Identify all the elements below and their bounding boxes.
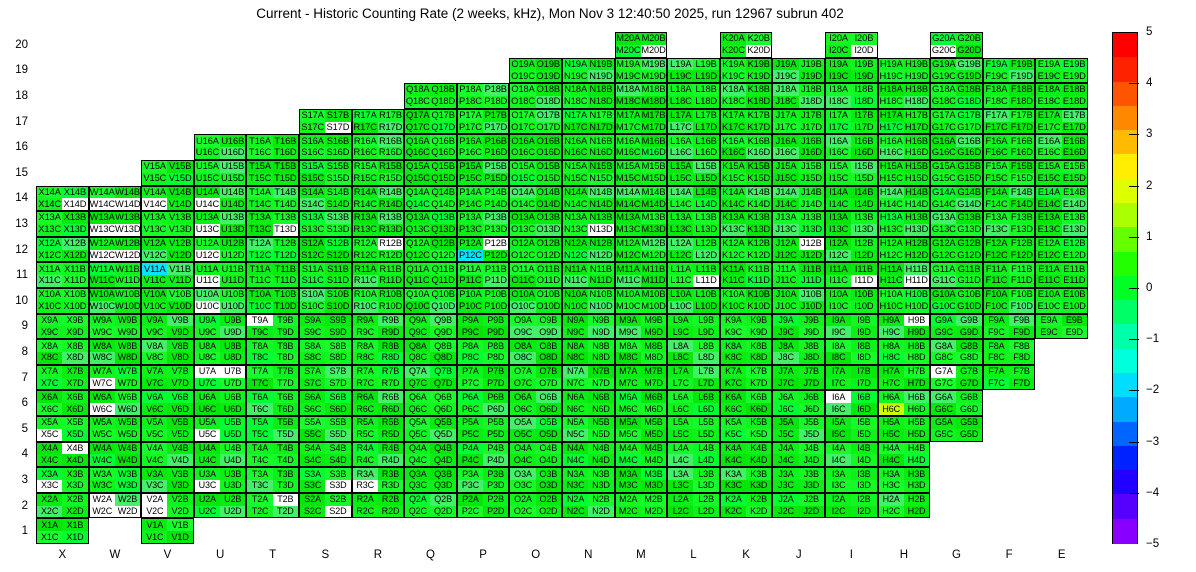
channel-L2A[interactable]: L2A bbox=[668, 494, 693, 506]
detector-cell-F13[interactable]: F13AF13BF13CF13D bbox=[983, 211, 1036, 237]
channel-L12D[interactable]: L12D bbox=[693, 250, 718, 262]
channel-E17B[interactable]: E17B bbox=[1062, 110, 1087, 122]
channel-U4B[interactable]: U4B bbox=[220, 443, 245, 455]
detector-cell-K13[interactable]: K13AK13BK13CK13D bbox=[720, 211, 773, 237]
channel-K14D[interactable]: K14D bbox=[746, 198, 771, 210]
detector-cell-N17[interactable]: N17AN17BN17CN17D bbox=[562, 109, 615, 135]
channel-F7B[interactable]: F7B bbox=[1009, 366, 1034, 378]
channel-U5B[interactable]: U5B bbox=[220, 417, 245, 429]
channel-F15D[interactable]: F15D bbox=[1009, 173, 1034, 185]
detector-cell-Q9[interactable]: Q9AQ9BQ9CQ9D bbox=[404, 314, 457, 340]
channel-T7B[interactable]: T7B bbox=[273, 366, 298, 378]
channel-K16A[interactable]: K16A bbox=[721, 135, 746, 147]
channel-Q14A[interactable]: Q14A bbox=[405, 187, 430, 199]
channel-S15D[interactable]: S15D bbox=[325, 173, 350, 185]
channel-S4C[interactable]: S4C bbox=[300, 454, 325, 466]
channel-H18D[interactable]: H18D bbox=[904, 96, 929, 108]
channel-M7B[interactable]: M7B bbox=[641, 366, 666, 378]
channel-P9D[interactable]: P9D bbox=[483, 326, 508, 338]
channel-N3B[interactable]: N3B bbox=[588, 468, 613, 480]
channel-P16A[interactable]: P16A bbox=[458, 135, 483, 147]
detector-cell-N4[interactable]: N4AN4BN4CN4D bbox=[562, 442, 615, 468]
detector-cell-L11[interactable]: L11AL11BL11CL11D bbox=[667, 262, 720, 288]
detector-cell-T3[interactable]: T3AT3BT3CT3D bbox=[246, 467, 299, 493]
detector-cell-M11[interactable]: M11AM11BM11CM11D bbox=[615, 262, 668, 288]
channel-P2B[interactable]: P2B bbox=[483, 494, 508, 506]
channel-Q4D[interactable]: Q4D bbox=[430, 454, 455, 466]
detector-cell-L14[interactable]: L14AL14BL14CL14D bbox=[667, 186, 720, 212]
channel-S12B[interactable]: S12B bbox=[325, 238, 350, 250]
channel-I19C[interactable]: I19C bbox=[826, 70, 851, 82]
channel-N16D[interactable]: N16D bbox=[588, 147, 613, 159]
channel-M4A[interactable]: M4A bbox=[616, 443, 641, 455]
channel-G5C[interactable]: G5C bbox=[931, 429, 956, 441]
channel-O13C[interactable]: O13C bbox=[510, 224, 535, 236]
channel-I19D[interactable]: I19D bbox=[851, 70, 876, 82]
channel-S5B[interactable]: S5B bbox=[325, 417, 350, 429]
detector-cell-R14[interactable]: R14AR14BR14CR14D bbox=[352, 186, 405, 212]
channel-O3B[interactable]: O3B bbox=[536, 468, 561, 480]
detector-cell-I7[interactable]: I7AI7BI7CI7D bbox=[825, 365, 878, 391]
channel-T5C[interactable]: T5C bbox=[247, 429, 272, 441]
detector-cell-L7[interactable]: L7AL7BL7CL7D bbox=[667, 365, 720, 391]
channel-X2A[interactable]: X2A bbox=[37, 494, 62, 506]
channel-J6C[interactable]: J6C bbox=[773, 403, 798, 415]
channel-G6C[interactable]: G6C bbox=[931, 403, 956, 415]
channel-W9D[interactable]: W9D bbox=[115, 326, 140, 338]
channel-N16A[interactable]: N16A bbox=[563, 135, 588, 147]
channel-F17A[interactable]: F17A bbox=[984, 110, 1009, 122]
detector-cell-K15[interactable]: K15AK15BK15CK15D bbox=[720, 160, 773, 186]
channel-J8C[interactable]: J8C bbox=[773, 352, 798, 364]
channel-V10A[interactable]: V10A bbox=[142, 289, 167, 301]
channel-W4D[interactable]: W4D bbox=[115, 454, 140, 466]
channel-P12D[interactable]: P12D bbox=[483, 250, 508, 262]
channel-R12B[interactable]: R12B bbox=[378, 238, 403, 250]
channel-Q3B[interactable]: Q3B bbox=[430, 468, 455, 480]
channel-L16D[interactable]: L16D bbox=[693, 147, 718, 159]
detector-cell-Q2[interactable]: Q2AQ2BQ2CQ2D bbox=[404, 493, 457, 519]
channel-S4B[interactable]: S4B bbox=[325, 443, 350, 455]
channel-J15A[interactable]: J15A bbox=[773, 161, 798, 173]
channel-I20D[interactable]: I20D bbox=[851, 45, 876, 57]
channel-J14D[interactable]: J14D bbox=[799, 198, 824, 210]
channel-N16C[interactable]: N16C bbox=[563, 147, 588, 159]
channel-Q6A[interactable]: Q6A bbox=[405, 391, 430, 403]
channel-K5D[interactable]: K5D bbox=[746, 429, 771, 441]
channel-J5A[interactable]: J5A bbox=[773, 417, 798, 429]
channel-F8D[interactable]: F8D bbox=[1009, 352, 1034, 364]
channel-Q12B[interactable]: Q12B bbox=[430, 238, 455, 250]
channel-H11C[interactable]: H11C bbox=[879, 275, 904, 287]
channel-G10A[interactable]: G10A bbox=[931, 289, 956, 301]
channel-L3B[interactable]: L3B bbox=[693, 468, 718, 480]
channel-R15B[interactable]: R15B bbox=[378, 161, 403, 173]
channel-N5C[interactable]: N5C bbox=[563, 429, 588, 441]
channel-I3A[interactable]: I3A bbox=[826, 468, 851, 480]
detector-cell-K14[interactable]: K14AK14BK14CK14D bbox=[720, 186, 773, 212]
channel-Q13C[interactable]: Q13C bbox=[405, 224, 430, 236]
channel-N15C[interactable]: N15C bbox=[563, 173, 588, 185]
detector-cell-I10[interactable]: I10AI10BI10CI10D bbox=[825, 288, 878, 314]
channel-T3C[interactable]: T3C bbox=[247, 480, 272, 492]
channel-H6C[interactable]: H6C bbox=[879, 403, 904, 415]
channel-G8D[interactable]: G8D bbox=[956, 352, 981, 364]
detector-cell-G20[interactable]: G20AG20BG20CG20D bbox=[930, 32, 983, 58]
channel-M3C[interactable]: M3C bbox=[616, 480, 641, 492]
channel-M7D[interactable]: M7D bbox=[641, 378, 666, 390]
channel-U15C[interactable]: U15C bbox=[195, 173, 220, 185]
channel-U6D[interactable]: U6D bbox=[220, 403, 245, 415]
channel-O10B[interactable]: O10B bbox=[536, 289, 561, 301]
channel-M8A[interactable]: M8A bbox=[616, 340, 641, 352]
channel-E17A[interactable]: E17A bbox=[1036, 110, 1061, 122]
channel-K11A[interactable]: K11A bbox=[721, 263, 746, 275]
channel-R6D[interactable]: R6D bbox=[378, 403, 403, 415]
channel-G11D[interactable]: G11D bbox=[956, 275, 981, 287]
detector-cell-R9[interactable]: R9AR9BR9CR9D bbox=[352, 314, 405, 340]
channel-S16B[interactable]: S16B bbox=[325, 135, 350, 147]
channel-M7A[interactable]: M7A bbox=[616, 366, 641, 378]
channel-P3B[interactable]: P3B bbox=[483, 468, 508, 480]
channel-R12C[interactable]: R12C bbox=[353, 250, 378, 262]
channel-O19D[interactable]: O19D bbox=[536, 70, 561, 82]
channel-P15D[interactable]: P15D bbox=[483, 173, 508, 185]
channel-I11C[interactable]: I11C bbox=[826, 275, 851, 287]
channel-M12C[interactable]: M12C bbox=[616, 250, 641, 262]
channel-F13C[interactable]: F13C bbox=[984, 224, 1009, 236]
channel-T2B[interactable]: T2B bbox=[273, 494, 298, 506]
detector-cell-U12[interactable]: U12AU12BU12CU12D bbox=[194, 237, 247, 263]
channel-I18A[interactable]: I18A bbox=[826, 84, 851, 96]
detector-cell-T16[interactable]: T16AT16BT16CT16D bbox=[246, 134, 299, 160]
channel-M4C[interactable]: M4C bbox=[616, 454, 641, 466]
channel-P11B[interactable]: P11B bbox=[483, 263, 508, 275]
detector-cell-H14[interactable]: H14AH14BH14CH14D bbox=[878, 186, 931, 212]
channel-N15B[interactable]: N15B bbox=[588, 161, 613, 173]
channel-F12C[interactable]: F12C bbox=[984, 250, 1009, 262]
detector-cell-W11[interactable]: W11AW11BW11CW11D bbox=[89, 262, 142, 288]
detector-cell-U11[interactable]: U11AU11BU11CU11D bbox=[194, 262, 247, 288]
channel-H6A[interactable]: H6A bbox=[879, 391, 904, 403]
channel-P6D[interactable]: P6D bbox=[483, 403, 508, 415]
channel-I15A[interactable]: I15A bbox=[826, 161, 851, 173]
channel-Q15B[interactable]: Q15B bbox=[430, 161, 455, 173]
channel-N17A[interactable]: N17A bbox=[563, 110, 588, 122]
channel-W3A[interactable]: W3A bbox=[90, 468, 115, 480]
channel-J17D[interactable]: J17D bbox=[799, 122, 824, 134]
channel-K20A[interactable]: K20A bbox=[721, 33, 746, 45]
detector-cell-J6[interactable]: J6AJ6BJ6CJ6D bbox=[772, 390, 825, 416]
channel-O4C[interactable]: O4C bbox=[510, 454, 535, 466]
channel-G15B[interactable]: G15B bbox=[956, 161, 981, 173]
channel-H4D[interactable]: H4D bbox=[904, 454, 929, 466]
channel-F15C[interactable]: F15C bbox=[984, 173, 1009, 185]
channel-I19A[interactable]: I19A bbox=[826, 59, 851, 71]
detector-cell-O12[interactable]: O12AO12BO12CO12D bbox=[509, 237, 562, 263]
channel-S6B[interactable]: S6B bbox=[325, 391, 350, 403]
detector-cell-E13[interactable]: E13AE13BE13CE13D bbox=[1035, 211, 1088, 237]
channel-F13B[interactable]: F13B bbox=[1009, 212, 1034, 224]
channel-F18A[interactable]: F18A bbox=[984, 84, 1009, 96]
detector-cell-X4[interactable]: X4AX4BX4CX4D bbox=[36, 442, 89, 468]
detector-cell-S5[interactable]: S5AS5BS5CS5D bbox=[299, 416, 352, 442]
channel-F10B[interactable]: F10B bbox=[1009, 289, 1034, 301]
channel-M4D[interactable]: M4D bbox=[641, 454, 666, 466]
channel-W10A[interactable]: W10A bbox=[90, 289, 115, 301]
detector-cell-O10[interactable]: O10AO10BO10CO10D bbox=[509, 288, 562, 314]
detector-cell-H10[interactable]: H10AH10BH10CH10D bbox=[878, 288, 931, 314]
channel-E13B[interactable]: E13B bbox=[1062, 212, 1087, 224]
channel-P13B[interactable]: P13B bbox=[483, 212, 508, 224]
channel-G17B[interactable]: G17B bbox=[956, 110, 981, 122]
channel-G17C[interactable]: G17C bbox=[931, 122, 956, 134]
channel-J17C[interactable]: J17C bbox=[773, 122, 798, 134]
channel-R11A[interactable]: R11A bbox=[353, 263, 378, 275]
channel-H14B[interactable]: H14B bbox=[904, 187, 929, 199]
channel-P18D[interactable]: P18D bbox=[483, 96, 508, 108]
channel-J9C[interactable]: J9C bbox=[773, 326, 798, 338]
channel-P5B[interactable]: P5B bbox=[483, 417, 508, 429]
channel-N10B[interactable]: N10B bbox=[588, 289, 613, 301]
channel-G19B[interactable]: G19B bbox=[956, 59, 981, 71]
detector-cell-G10[interactable]: G10AG10BG10CG10D bbox=[930, 288, 983, 314]
channel-U15A[interactable]: U15A bbox=[195, 161, 220, 173]
channel-N2A[interactable]: N2A bbox=[563, 494, 588, 506]
channel-Q15C[interactable]: Q15C bbox=[405, 173, 430, 185]
channel-H8A[interactable]: H8A bbox=[879, 340, 904, 352]
channel-X13B[interactable]: X13B bbox=[62, 212, 87, 224]
channel-L10B[interactable]: L10B bbox=[693, 289, 718, 301]
channel-S7C[interactable]: S7C bbox=[300, 378, 325, 390]
channel-V7D[interactable]: V7D bbox=[167, 378, 192, 390]
channel-K5A[interactable]: K5A bbox=[721, 417, 746, 429]
channel-L19A[interactable]: L19A bbox=[668, 59, 693, 71]
channel-M6D[interactable]: M6D bbox=[641, 403, 666, 415]
detector-cell-X10[interactable]: X10AX10BX10CX10D bbox=[36, 288, 89, 314]
channel-J9B[interactable]: J9B bbox=[799, 315, 824, 327]
channel-R14B[interactable]: R14B bbox=[378, 187, 403, 199]
channel-P17C[interactable]: P17C bbox=[458, 122, 483, 134]
channel-M10D[interactable]: M10D bbox=[641, 301, 666, 313]
detector-cell-I9[interactable]: I9AI9BI9CI9D bbox=[825, 314, 878, 340]
channel-P12B[interactable]: P12B bbox=[483, 238, 508, 250]
channel-K6B[interactable]: K6B bbox=[746, 391, 771, 403]
detector-cell-N14[interactable]: N14AN14BN14CN14D bbox=[562, 186, 615, 212]
detector-cell-S15[interactable]: S15AS15BS15CS15D bbox=[299, 160, 352, 186]
channel-J18C[interactable]: J18C bbox=[773, 96, 798, 108]
detector-cell-X2[interactable]: X2AX2BX2CX2D bbox=[36, 493, 89, 519]
channel-T12A[interactable]: T12A bbox=[247, 238, 272, 250]
detector-cell-E12[interactable]: E12AE12BE12CE12D bbox=[1035, 237, 1088, 263]
channel-L2B[interactable]: L2B bbox=[693, 494, 718, 506]
channel-O18D[interactable]: O18D bbox=[536, 96, 561, 108]
channel-Q7C[interactable]: Q7C bbox=[405, 378, 430, 390]
detector-cell-I19[interactable]: I19AI19BI19CI19D bbox=[825, 58, 878, 84]
channel-I9A[interactable]: I9A bbox=[826, 315, 851, 327]
detector-cell-Q18[interactable]: Q18AQ18BQ18CQ18D bbox=[404, 83, 457, 109]
detector-cell-I3[interactable]: I3AI3BI3CI3D bbox=[825, 467, 878, 493]
channel-E15C[interactable]: E15C bbox=[1036, 173, 1061, 185]
channel-R11C[interactable]: R11C bbox=[353, 275, 378, 287]
channel-F19A[interactable]: F19A bbox=[984, 59, 1009, 71]
channel-Q17B[interactable]: Q17B bbox=[430, 110, 455, 122]
channel-L11A[interactable]: L11A bbox=[668, 263, 693, 275]
channel-F10A[interactable]: F10A bbox=[984, 289, 1009, 301]
channel-X9A[interactable]: X9A bbox=[37, 315, 62, 327]
channel-H3D[interactable]: H3D bbox=[904, 480, 929, 492]
channel-T10C[interactable]: T10C bbox=[247, 301, 272, 313]
channel-M9B[interactable]: M9B bbox=[641, 315, 666, 327]
channel-M9C[interactable]: M9C bbox=[616, 326, 641, 338]
channel-X1B[interactable]: X1B bbox=[62, 519, 87, 531]
channel-M2A[interactable]: M2A bbox=[616, 494, 641, 506]
channel-O7A[interactable]: O7A bbox=[510, 366, 535, 378]
channel-J8D[interactable]: J8D bbox=[799, 352, 824, 364]
channel-L13B[interactable]: L13B bbox=[693, 212, 718, 224]
channel-U16D[interactable]: U16D bbox=[220, 147, 245, 159]
channel-O5B[interactable]: O5B bbox=[536, 417, 561, 429]
channel-N6D[interactable]: N6D bbox=[588, 403, 613, 415]
channel-T15D[interactable]: T15D bbox=[273, 173, 298, 185]
channel-U5A[interactable]: U5A bbox=[195, 417, 220, 429]
channel-H2C[interactable]: H2C bbox=[879, 506, 904, 518]
channel-W7C[interactable]: W7C bbox=[90, 378, 115, 390]
channel-P9A[interactable]: P9A bbox=[458, 315, 483, 327]
channel-R17A[interactable]: R17A bbox=[353, 110, 378, 122]
channel-W11A[interactable]: W11A bbox=[90, 263, 115, 275]
channel-J14B[interactable]: J14B bbox=[799, 187, 824, 199]
channel-O18C[interactable]: O18C bbox=[510, 96, 535, 108]
detector-cell-O8[interactable]: O8AO8BO8CO8D bbox=[509, 339, 562, 365]
channel-G10D[interactable]: G10D bbox=[956, 301, 981, 313]
detector-cell-M19[interactable]: M19AM19BM19CM19D bbox=[615, 58, 668, 84]
detector-cell-Q14[interactable]: Q14AQ14BQ14CQ14D bbox=[404, 186, 457, 212]
channel-N3C[interactable]: N3C bbox=[563, 480, 588, 492]
channel-U14B[interactable]: U14B bbox=[220, 187, 245, 199]
channel-E19B[interactable]: E19B bbox=[1062, 59, 1087, 71]
channel-N14A[interactable]: N14A bbox=[563, 187, 588, 199]
channel-U5C[interactable]: U5C bbox=[195, 429, 220, 441]
channel-P3A[interactable]: P3A bbox=[458, 468, 483, 480]
channel-T14A[interactable]: T14A bbox=[247, 187, 272, 199]
channel-T8B[interactable]: T8B bbox=[273, 340, 298, 352]
channel-N13A[interactable]: N13A bbox=[563, 212, 588, 224]
channel-X1C[interactable]: X1C bbox=[37, 531, 62, 543]
channel-J18B[interactable]: J18B bbox=[799, 84, 824, 96]
channel-H8B[interactable]: H8B bbox=[904, 340, 929, 352]
channel-L15D[interactable]: L15D bbox=[693, 173, 718, 185]
channel-F11D[interactable]: F11D bbox=[1009, 275, 1034, 287]
channel-U11A[interactable]: U11A bbox=[195, 263, 220, 275]
detector-cell-R10[interactable]: R10AR10BR10CR10D bbox=[352, 288, 405, 314]
channel-U15B[interactable]: U15B bbox=[220, 161, 245, 173]
channel-O2A[interactable]: O2A bbox=[510, 494, 535, 506]
channel-K7B[interactable]: K7B bbox=[746, 366, 771, 378]
detector-cell-Q16[interactable]: Q16AQ16BQ16CQ16D bbox=[404, 134, 457, 160]
channel-R16A[interactable]: R16A bbox=[353, 135, 378, 147]
channel-P4C[interactable]: P4C bbox=[458, 454, 483, 466]
channel-H12D[interactable]: H12D bbox=[904, 250, 929, 262]
detector-cell-Q12[interactable]: Q12AQ12BQ12CQ12D bbox=[404, 237, 457, 263]
detector-cell-M18[interactable]: M18AM18BM18CM18D bbox=[615, 83, 668, 109]
channel-J2D[interactable]: J2D bbox=[799, 506, 824, 518]
channel-P13A[interactable]: P13A bbox=[458, 212, 483, 224]
channel-N9A[interactable]: N9A bbox=[563, 315, 588, 327]
detector-cell-J4[interactable]: J4AJ4BJ4CJ4D bbox=[772, 442, 825, 468]
channel-S12D[interactable]: S12D bbox=[325, 250, 350, 262]
channel-L3D[interactable]: L3D bbox=[693, 480, 718, 492]
detector-cell-X7[interactable]: X7AX7BX7CX7D bbox=[36, 365, 89, 391]
channel-W9B[interactable]: W9B bbox=[115, 315, 140, 327]
detector-cell-E16[interactable]: E16AE16BE16CE16D bbox=[1035, 134, 1088, 160]
detector-cell-M8[interactable]: M8AM8BM8CM8D bbox=[615, 339, 668, 365]
channel-V5D[interactable]: V5D bbox=[167, 429, 192, 441]
channel-V3A[interactable]: V3A bbox=[142, 468, 167, 480]
channel-W10D[interactable]: W10D bbox=[115, 301, 140, 313]
channel-Q15A[interactable]: Q15A bbox=[405, 161, 430, 173]
channel-J19C[interactable]: J19C bbox=[773, 70, 798, 82]
channel-G10C[interactable]: G10C bbox=[931, 301, 956, 313]
channel-Q10A[interactable]: Q10A bbox=[405, 289, 430, 301]
channel-S4D[interactable]: S4D bbox=[325, 454, 350, 466]
detector-cell-V1[interactable]: V1AV1BV1CV1D bbox=[141, 518, 194, 544]
channel-M12A[interactable]: M12A bbox=[616, 238, 641, 250]
detector-cell-S12[interactable]: S12AS12BS12CS12D bbox=[299, 237, 352, 263]
channel-M17D[interactable]: M17D bbox=[641, 122, 666, 134]
channel-S3C[interactable]: S3C bbox=[300, 480, 325, 492]
channel-E13A[interactable]: E13A bbox=[1036, 212, 1061, 224]
detector-cell-V12[interactable]: V12AV12BV12CV12D bbox=[141, 237, 194, 263]
channel-T12C[interactable]: T12C bbox=[247, 250, 272, 262]
channel-V12B[interactable]: V12B bbox=[167, 238, 192, 250]
channel-Q9A[interactable]: Q9A bbox=[405, 315, 430, 327]
channel-V11C[interactable]: V11C bbox=[142, 275, 167, 287]
channel-Q6D[interactable]: Q6D bbox=[430, 403, 455, 415]
channel-I11B[interactable]: I11B bbox=[851, 263, 876, 275]
channel-E15D[interactable]: E15D bbox=[1062, 173, 1087, 185]
channel-U16B[interactable]: U16B bbox=[220, 135, 245, 147]
channel-L17A[interactable]: L17A bbox=[668, 110, 693, 122]
channel-N5B[interactable]: N5B bbox=[588, 417, 613, 429]
channel-K6C[interactable]: K6C bbox=[721, 403, 746, 415]
channel-U12D[interactable]: U12D bbox=[220, 250, 245, 262]
channel-I18D[interactable]: I18D bbox=[851, 96, 876, 108]
detector-cell-N9[interactable]: N9AN9BN9CN9D bbox=[562, 314, 615, 340]
channel-Q15D[interactable]: Q15D bbox=[430, 173, 455, 185]
channel-T13A[interactable]: T13A bbox=[247, 212, 272, 224]
channel-H19C[interactable]: H19C bbox=[879, 70, 904, 82]
channel-V1A[interactable]: V1A bbox=[142, 519, 167, 531]
channel-U8B[interactable]: U8B bbox=[220, 340, 245, 352]
channel-T16C[interactable]: T16C bbox=[247, 147, 272, 159]
channel-X12A[interactable]: X12A bbox=[37, 238, 62, 250]
detector-cell-K7[interactable]: K7AK7BK7CK7D bbox=[720, 365, 773, 391]
channel-U2B[interactable]: U2B bbox=[220, 494, 245, 506]
channel-T16A[interactable]: T16A bbox=[247, 135, 272, 147]
channel-M5B[interactable]: M5B bbox=[641, 417, 666, 429]
detector-cell-P9[interactable]: P9AP9BP9CP9D bbox=[457, 314, 510, 340]
detector-cell-L2[interactable]: L2AL2BL2CL2D bbox=[667, 493, 720, 519]
detector-cell-V11[interactable]: V11AV11BV11CV11D bbox=[141, 262, 194, 288]
detector-cell-T8[interactable]: T8AT8BT8CT8D bbox=[246, 339, 299, 365]
channel-X4C[interactable]: X4C bbox=[37, 454, 62, 466]
channel-J13B[interactable]: J13B bbox=[799, 212, 824, 224]
channel-N13D[interactable]: N13D bbox=[588, 224, 613, 236]
detector-cell-P5[interactable]: P5AP5BP5CP5D bbox=[457, 416, 510, 442]
channel-N5D[interactable]: N5D bbox=[588, 429, 613, 441]
channel-S17A[interactable]: S17A bbox=[300, 110, 325, 122]
